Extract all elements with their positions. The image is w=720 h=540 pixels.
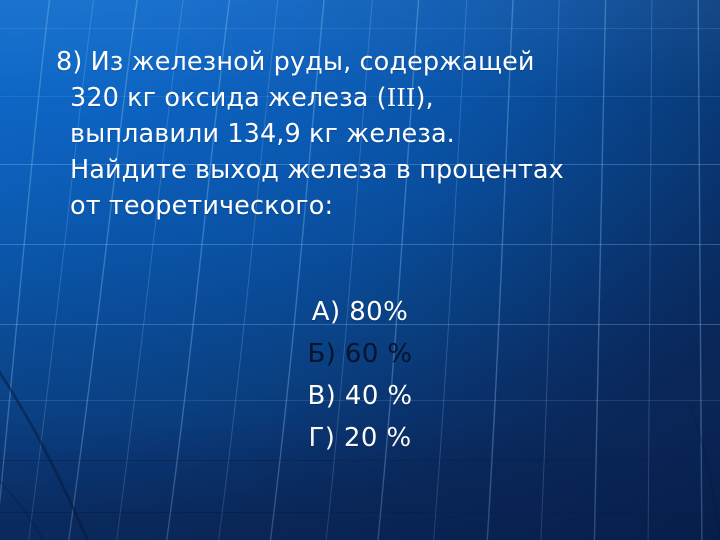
answer-option-b[interactable]: Б) 60 %	[0, 333, 720, 375]
question-line-4: Найдите выход железа в процентах	[56, 152, 676, 188]
roman-numeral-three: III	[387, 84, 416, 112]
question-line-5: от теоретического:	[56, 188, 676, 224]
question-line-1: 8) Из железной руды, содержащей	[56, 44, 676, 80]
answer-options-list: А) 80% Б) 60 % В) 40 % Г) 20 %	[0, 291, 720, 459]
slide-content: 8) Из железной руды, содержащей 320 кг о…	[0, 0, 720, 540]
question-line-2-prefix: 320 кг оксида железа (	[70, 83, 387, 113]
question-line-3: выплавили 134,9 кг железа.	[56, 116, 676, 152]
question-line-2: 320 кг оксида железа (III),	[56, 80, 676, 116]
question-block: 8) Из железной руды, содержащей 320 кг о…	[56, 44, 676, 224]
presentation-slide: 8) Из железной руды, содержащей 320 кг о…	[0, 0, 720, 540]
answer-option-a[interactable]: А) 80%	[0, 291, 720, 333]
answer-option-g[interactable]: Г) 20 %	[0, 417, 720, 459]
answer-option-v[interactable]: В) 40 %	[0, 375, 720, 417]
question-line-2-suffix: ),	[415, 83, 433, 113]
